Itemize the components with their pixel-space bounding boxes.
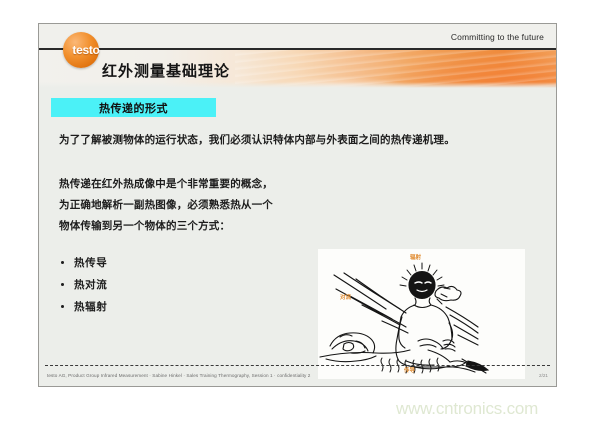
slide-header: testo Committing to the future 红外测量基础理论 — [39, 24, 556, 89]
header-bottom-fade — [39, 82, 556, 89]
site-watermark: www.cntronics.com — [396, 399, 538, 419]
section-heading-chip: 热传递的形式 — [51, 98, 216, 117]
footer-divider — [45, 365, 550, 366]
list-item: 热对流 — [61, 273, 107, 295]
body-line-3: 物体传输到另一个物体的三个方式： — [59, 216, 273, 237]
heat-transfer-bullet-list: 热传导 热对流 热辐射 — [61, 251, 107, 317]
illustration-label-radiation: 辐射 — [410, 253, 421, 261]
bullet-label-conduction: 热传导 — [74, 255, 107, 270]
illustration-label-conduction: 传导 — [404, 366, 415, 374]
footer-text: testo AG, Product Group Infrared Measure… — [47, 373, 310, 378]
bullet-dot-icon — [61, 261, 64, 264]
list-item: 热传导 — [61, 251, 107, 273]
bullet-dot-icon — [61, 305, 64, 308]
bullet-label-convection: 热对流 — [74, 277, 107, 292]
presentation-slide: testo Committing to the future 红外测量基础理论 … — [38, 23, 557, 387]
footer-page-number: 2/21 — [539, 373, 548, 378]
testo-logo-text: testo — [63, 44, 109, 57]
body-line-1: 热传递在红外热成像中是个非常重要的概念， — [59, 174, 273, 195]
header-horizontal-rule — [39, 48, 556, 50]
bullet-label-radiation: 热辐射 — [74, 299, 107, 314]
body-line-2: 为正确地解析一副热图像，必须熟悉热从一个 — [59, 195, 273, 216]
heat-transfer-illustration: 辐射 对流 传导 — [318, 249, 525, 379]
page-title: 红外测量基础理论 — [102, 60, 230, 81]
intro-paragraph: 为了了解被测物体的运行状态，我们必须认识特体内部与外表面之间的热传递机理。 — [59, 132, 455, 147]
section-heading-label: 热传递的形式 — [99, 100, 168, 116]
list-item: 热辐射 — [61, 295, 107, 317]
header-tagline: Committing to the future — [451, 32, 544, 42]
illustration-label-convection: 对流 — [340, 293, 351, 301]
body-paragraph: 热传递在红外热成像中是个非常重要的概念， 为正确地解析一副热图像，必须熟悉热从一… — [59, 174, 273, 237]
slide-content: 热传递的形式 为了了解被测物体的运行状态，我们必须认识特体内部与外表面之间的热传… — [39, 89, 556, 386]
illustration-linework — [318, 249, 525, 379]
bullet-dot-icon — [61, 283, 64, 286]
